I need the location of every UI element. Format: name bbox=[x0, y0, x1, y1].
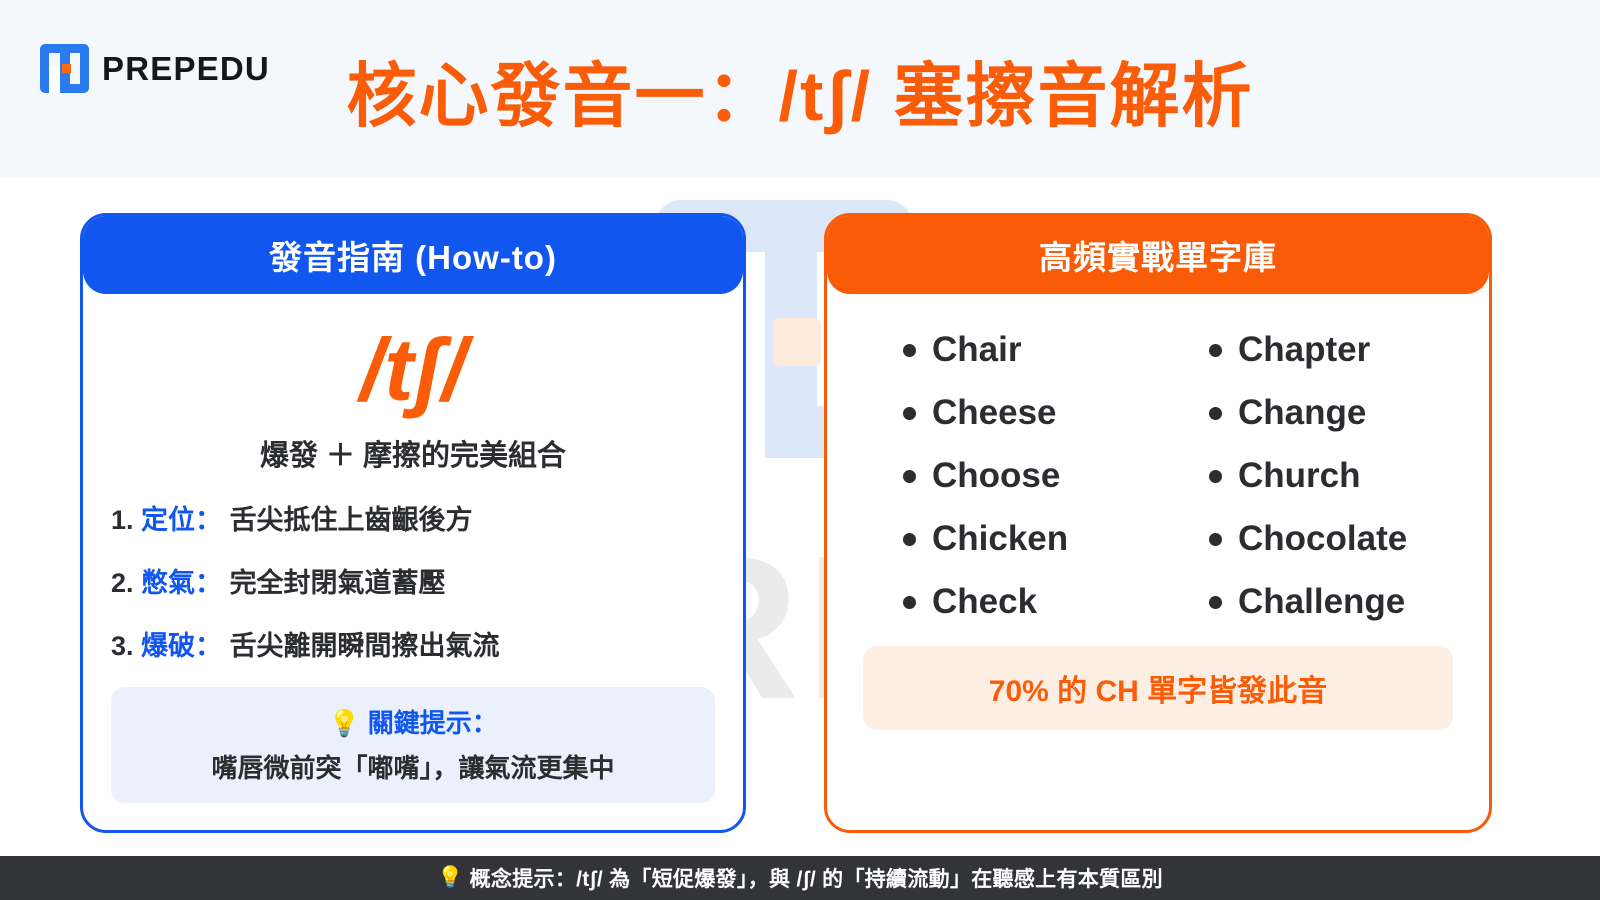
bullet-icon bbox=[1209, 596, 1222, 609]
list-item: Church bbox=[1209, 456, 1489, 496]
left-panel-body: /tʃ/ 爆發 ＋ 摩擦的完美組合 1. 定位： 舌尖抵住上齒齦後方 2. 憋氣… bbox=[83, 294, 743, 803]
list-item: Change bbox=[1209, 393, 1489, 433]
bullet-icon bbox=[903, 344, 916, 357]
step-keyword: 爆破 bbox=[141, 631, 195, 661]
word-label: Change bbox=[1238, 393, 1366, 433]
step-number: 2. bbox=[111, 568, 134, 598]
bullet-icon bbox=[1209, 407, 1222, 420]
ipa-subtitle: 爆發 ＋ 摩擦的完美組合 bbox=[83, 432, 743, 474]
step-description: 完全封閉氣道蓄壓 bbox=[230, 568, 446, 598]
key-tip-title: 關鍵提示： bbox=[368, 708, 498, 738]
list-item: Chair bbox=[903, 330, 1183, 370]
word-label: Chicken bbox=[932, 519, 1068, 559]
key-tip-box: 💡 關鍵提示： 嘴唇微前突「嘟嘴」，讓氣流更集中 bbox=[111, 687, 715, 803]
lightbulb-icon: 💡 bbox=[437, 866, 463, 890]
left-panel-header: 發音指南 (How-to) bbox=[83, 216, 743, 294]
list-item: Cheese bbox=[903, 393, 1183, 433]
list-item: Chocolate bbox=[1209, 519, 1489, 559]
list-item: Chicken bbox=[903, 519, 1183, 559]
word-label: Chocolate bbox=[1238, 519, 1407, 559]
word-label: Chapter bbox=[1238, 330, 1370, 370]
bullet-icon bbox=[903, 407, 916, 420]
word-label: Cheese bbox=[932, 393, 1057, 433]
bullet-icon bbox=[903, 533, 916, 546]
step-description: 舌尖抵住上齒齦後方 bbox=[230, 505, 473, 535]
bullet-icon bbox=[1209, 470, 1222, 483]
footer-text: 概念提示：/tʃ/ 為「短促爆發」，與 /ʃ/ 的「持續流動」在聽感上有本質區別 bbox=[470, 863, 1163, 893]
word-bank-panel: 高頻實戰單字庫 Chair Chapter Cheese Change Choo… bbox=[824, 213, 1492, 833]
right-panel-header: 高頻實戰單字庫 bbox=[827, 216, 1489, 294]
word-label: Chair bbox=[932, 330, 1021, 370]
bullet-icon bbox=[1209, 533, 1222, 546]
pronunciation-guide-panel: 發音指南 (How-to) /tʃ/ 爆發 ＋ 摩擦的完美組合 1. 定位： 舌… bbox=[80, 213, 746, 833]
steps-list: 1. 定位： 舌尖抵住上齒齦後方 2. 憋氣： 完全封閉氣道蓄壓 3. 爆破： … bbox=[83, 498, 743, 663]
lightbulb-icon: 💡 bbox=[328, 708, 360, 738]
step-item: 3. 爆破： 舌尖離開瞬間擦出氣流 bbox=[111, 624, 743, 663]
word-label: Check bbox=[932, 582, 1037, 622]
ipa-symbol-large: /tʃ/ bbox=[83, 326, 743, 414]
step-keyword: 憋氣 bbox=[141, 568, 195, 598]
step-description: 舌尖離開瞬間擦出氣流 bbox=[230, 631, 500, 661]
list-item: Chapter bbox=[1209, 330, 1489, 370]
key-tip-title-row: 💡 關鍵提示： bbox=[121, 703, 705, 740]
word-label: Church bbox=[1238, 456, 1361, 496]
step-separator: ： bbox=[195, 568, 222, 598]
right-panel-body: Chair Chapter Cheese Change Choose Churc… bbox=[827, 294, 1489, 730]
page-title: 核心發音一：/tʃ/ 塞擦音解析 bbox=[0, 60, 1600, 134]
step-number: 3. bbox=[111, 631, 134, 661]
list-item: Choose bbox=[903, 456, 1183, 496]
bullet-icon bbox=[903, 596, 916, 609]
footer-bar: 💡 概念提示：/tʃ/ 為「短促爆發」，與 /ʃ/ 的「持續流動」在聽感上有本質… bbox=[0, 856, 1600, 900]
word-list-grid: Chair Chapter Cheese Change Choose Churc… bbox=[827, 294, 1489, 622]
word-label: Choose bbox=[932, 456, 1060, 496]
word-label: Challenge bbox=[1238, 582, 1405, 622]
bullet-icon bbox=[903, 470, 916, 483]
step-separator: ： bbox=[195, 505, 222, 535]
step-item: 1. 定位： 舌尖抵住上齒齦後方 bbox=[111, 498, 743, 537]
stat-callout: 70% 的 CH 單字皆發此音 bbox=[863, 646, 1453, 730]
step-keyword: 定位 bbox=[141, 505, 195, 535]
list-item: Check bbox=[903, 582, 1183, 622]
step-item: 2. 憋氣： 完全封閉氣道蓄壓 bbox=[111, 561, 743, 600]
step-number: 1. bbox=[111, 505, 134, 535]
step-separator: ： bbox=[195, 631, 222, 661]
key-tip-body: 嘴唇微前突「嘟嘴」，讓氣流更集中 bbox=[121, 748, 705, 785]
list-item: Challenge bbox=[1209, 582, 1489, 622]
bullet-icon bbox=[1209, 344, 1222, 357]
